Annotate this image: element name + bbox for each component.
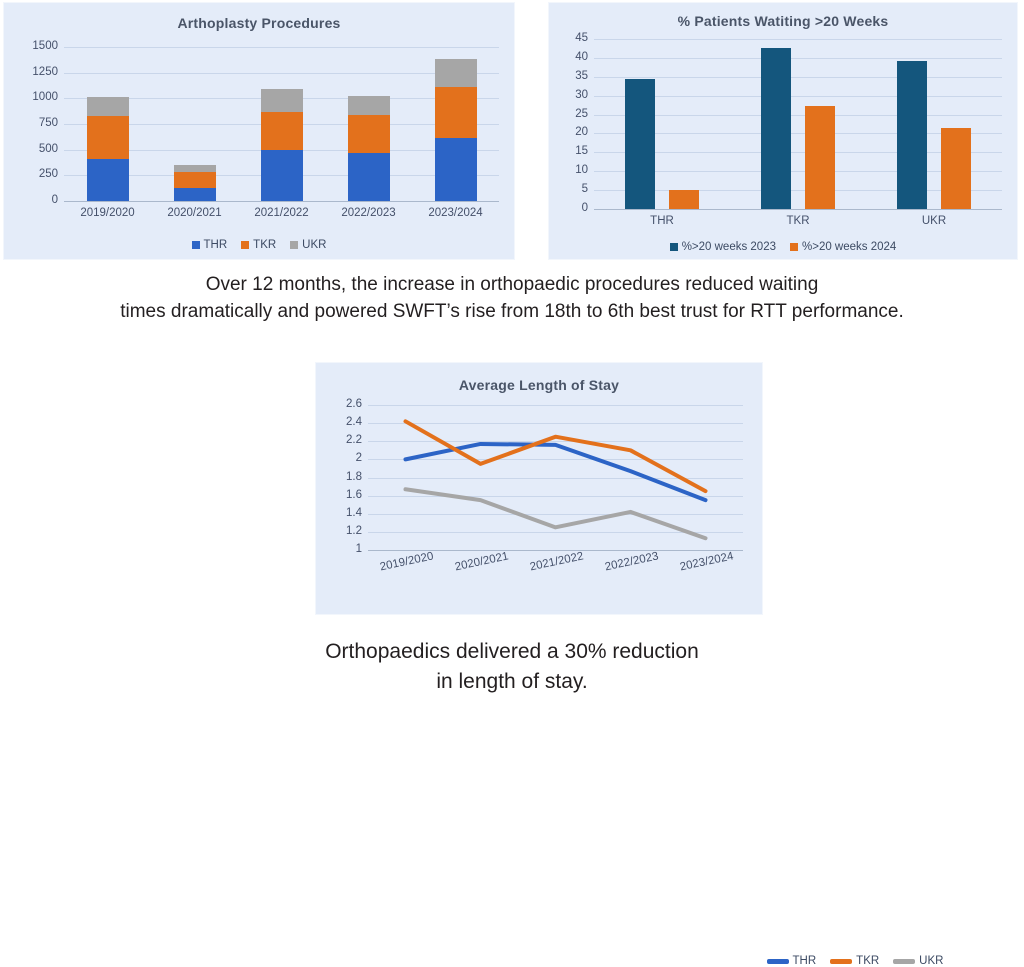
chart-legend-percent-patients-waiting: %>20 weeks 2023%>20 weeks 2024 [549,241,1017,253]
x-axis-tick-label: 2021/2022 [238,207,325,219]
y-axis-tick-label: 1.8 [312,472,362,483]
y-axis-tick-label: 1.6 [312,490,362,501]
y-axis-tick-label: 250 [8,169,58,180]
gridline [594,115,1002,116]
x-axis-tick-label: 2023/2024 [669,548,745,575]
legend-item[interactable]: UKR [893,955,943,967]
chart-legend-arthroplasty-procedures: THRTKRUKR [4,239,514,251]
y-axis-tick-label: 2 [312,453,362,464]
gridline [64,201,499,202]
x-axis-tick-label: 2019/2020 [64,207,151,219]
y-axis-tick-label: 40 [538,52,588,63]
line-series-group [368,405,743,550]
legend-label: UKR [302,239,326,251]
y-axis-tick-label: 0 [8,195,58,206]
x-axis-tick-label: 2020/2021 [151,207,238,219]
legend-item[interactable]: %>20 weeks 2023 [670,241,776,253]
y-axis-tick-label: 15 [538,146,588,157]
legend-swatch-square-icon [670,243,678,251]
x-axis-tick-label: THR [594,215,730,227]
x-axis-tick-label: 2022/2023 [325,207,412,219]
caption-middle: Over 12 months, the increase in orthopae… [0,272,1024,326]
bar-tkr-2023[interactable] [761,48,791,209]
y-axis-tick-label: 1500 [8,41,58,52]
legend-label: THR [793,955,817,967]
y-axis-tick-label: 35 [538,71,588,82]
caption-bottom-line-2: in length of stay. [0,667,1024,697]
legend-label: %>20 weeks 2024 [802,241,896,253]
y-axis-tick-label: 10 [538,165,588,176]
line-series-ukr[interactable] [406,489,706,538]
y-axis-tick-label: 2.6 [312,399,362,410]
bar-thr-2024[interactable] [669,190,699,209]
y-axis-tick-label: 500 [8,144,58,155]
x-axis-tick-label: UKR [866,215,1002,227]
y-axis-tick-label: 30 [538,90,588,101]
y-axis-tick-label: 2.2 [312,435,362,446]
x-axis-tick-label: 2021/2022 [519,548,595,575]
bar-stack[interactable] [261,47,303,201]
bar-segment-thr[interactable] [435,138,477,201]
bar-segment-thr[interactable] [174,188,216,201]
legend-item[interactable]: UKR [290,239,326,251]
y-axis-tick-label: 1.4 [312,508,362,519]
bar-segment-ukr[interactable] [435,59,477,87]
y-axis-tick-label: 750 [8,118,58,129]
bar-segment-thr[interactable] [348,153,390,201]
bar-segment-ukr[interactable] [174,165,216,172]
legend-swatch-square-icon [290,241,298,249]
chart-title-average-length-of-stay: Average Length of Stay [316,377,762,393]
legend-swatch-square-icon [790,243,798,251]
x-axis-tick-label: 2020/2021 [444,548,520,575]
bar-tkr-2024[interactable] [805,106,835,209]
bar-stack[interactable] [174,47,216,201]
legend-swatch-square-icon [192,241,200,249]
legend-item[interactable]: TKR [830,955,879,967]
y-axis-tick-label: 1000 [8,92,58,103]
legend-label: UKR [919,955,943,967]
bar-ukr-2024[interactable] [941,128,971,209]
y-axis-tick-label: 1.2 [312,526,362,537]
bar-stack[interactable] [435,47,477,201]
y-axis-tick-label: 25 [538,109,588,120]
caption-middle-line-1: Over 12 months, the increase in orthopae… [0,272,1024,299]
chart-panel-average-length-of-stay: Average Length of Stay 11.21.41.61.822.2… [315,362,763,615]
y-axis-tick-label: 0 [538,203,588,214]
plot-area-arthroplasty-procedures: 02505007501000125015002019/20202020/2021… [64,47,499,201]
plot-area-percent-patients-waiting: 051015202530354045THRTKRUKR [594,39,1002,209]
legend-swatch-square-icon [241,241,249,249]
x-axis-tick-label: 2022/2023 [594,548,670,575]
caption-bottom-line-1: Orthopaedics delivered a 30% reduction [0,637,1024,667]
gridline [594,77,1002,78]
legend-swatch-line-icon [830,959,852,964]
y-axis-tick-label: 1 [312,544,362,555]
caption-bottom: Orthopaedics delivered a 30% reduction i… [0,637,1024,697]
bar-segment-tkr[interactable] [348,115,390,154]
legend-item[interactable]: TKR [241,239,276,251]
bar-segment-tkr[interactable] [261,112,303,151]
line-series-thr[interactable] [406,444,706,500]
gridline [594,39,1002,40]
legend-label: TKR [253,239,276,251]
y-axis-tick-label: 45 [538,33,588,44]
x-axis-tick-label: TKR [730,215,866,227]
bar-segment-ukr[interactable] [261,89,303,112]
y-axis-tick-label: 2.4 [312,417,362,428]
y-axis-tick-label: 5 [538,184,588,195]
bar-thr-2023[interactable] [625,79,655,209]
chart-title-arthroplasty-procedures: Arthoplasty Procedures [4,15,514,31]
gridline [594,96,1002,97]
y-axis-tick-label: 1250 [8,67,58,78]
bar-segment-tkr[interactable] [435,87,477,138]
gridline [594,58,1002,59]
bar-segment-ukr[interactable] [348,96,390,115]
legend-item[interactable]: %>20 weeks 2024 [790,241,896,253]
bar-stack[interactable] [87,47,129,201]
x-axis-tick-label: 2019/2020 [369,548,445,575]
legend-swatch-line-icon [767,959,789,964]
bar-stack[interactable] [348,47,390,201]
chart-panel-arthroplasty-procedures: Arthoplasty Procedures 02505007501000125… [3,2,515,260]
bar-segment-tkr[interactable] [174,172,216,187]
legend-label: TKR [856,955,879,967]
chart-panel-percent-patients-waiting: % Patients Watiting >20 Weeks 0510152025… [548,2,1018,260]
legend-item[interactable]: THR [767,955,817,967]
legend-label: %>20 weeks 2023 [682,241,776,253]
bar-segment-ukr[interactable] [87,97,129,115]
legend-swatch-line-icon [893,959,915,964]
plot-area-average-length-of-stay: 11.21.41.61.822.22.42.62019/20202020/202… [368,405,743,550]
caption-middle-line-2: times dramatically and powered SWFT’s ri… [0,299,1024,326]
legend-label: THR [204,239,228,251]
bar-segment-tkr[interactable] [87,116,129,159]
chart-legend-average-length-of-stay: THRTKRUKR [631,955,1024,967]
x-axis-tick-label: 2023/2024 [412,207,499,219]
chart-title-percent-patients-waiting: % Patients Watiting >20 Weeks [549,13,1017,29]
gridline [594,209,1002,210]
bar-ukr-2023[interactable] [897,61,927,209]
bar-segment-thr[interactable] [261,150,303,201]
y-axis-tick-label: 20 [538,127,588,138]
bar-segment-thr[interactable] [87,159,129,201]
legend-item[interactable]: THR [192,239,228,251]
